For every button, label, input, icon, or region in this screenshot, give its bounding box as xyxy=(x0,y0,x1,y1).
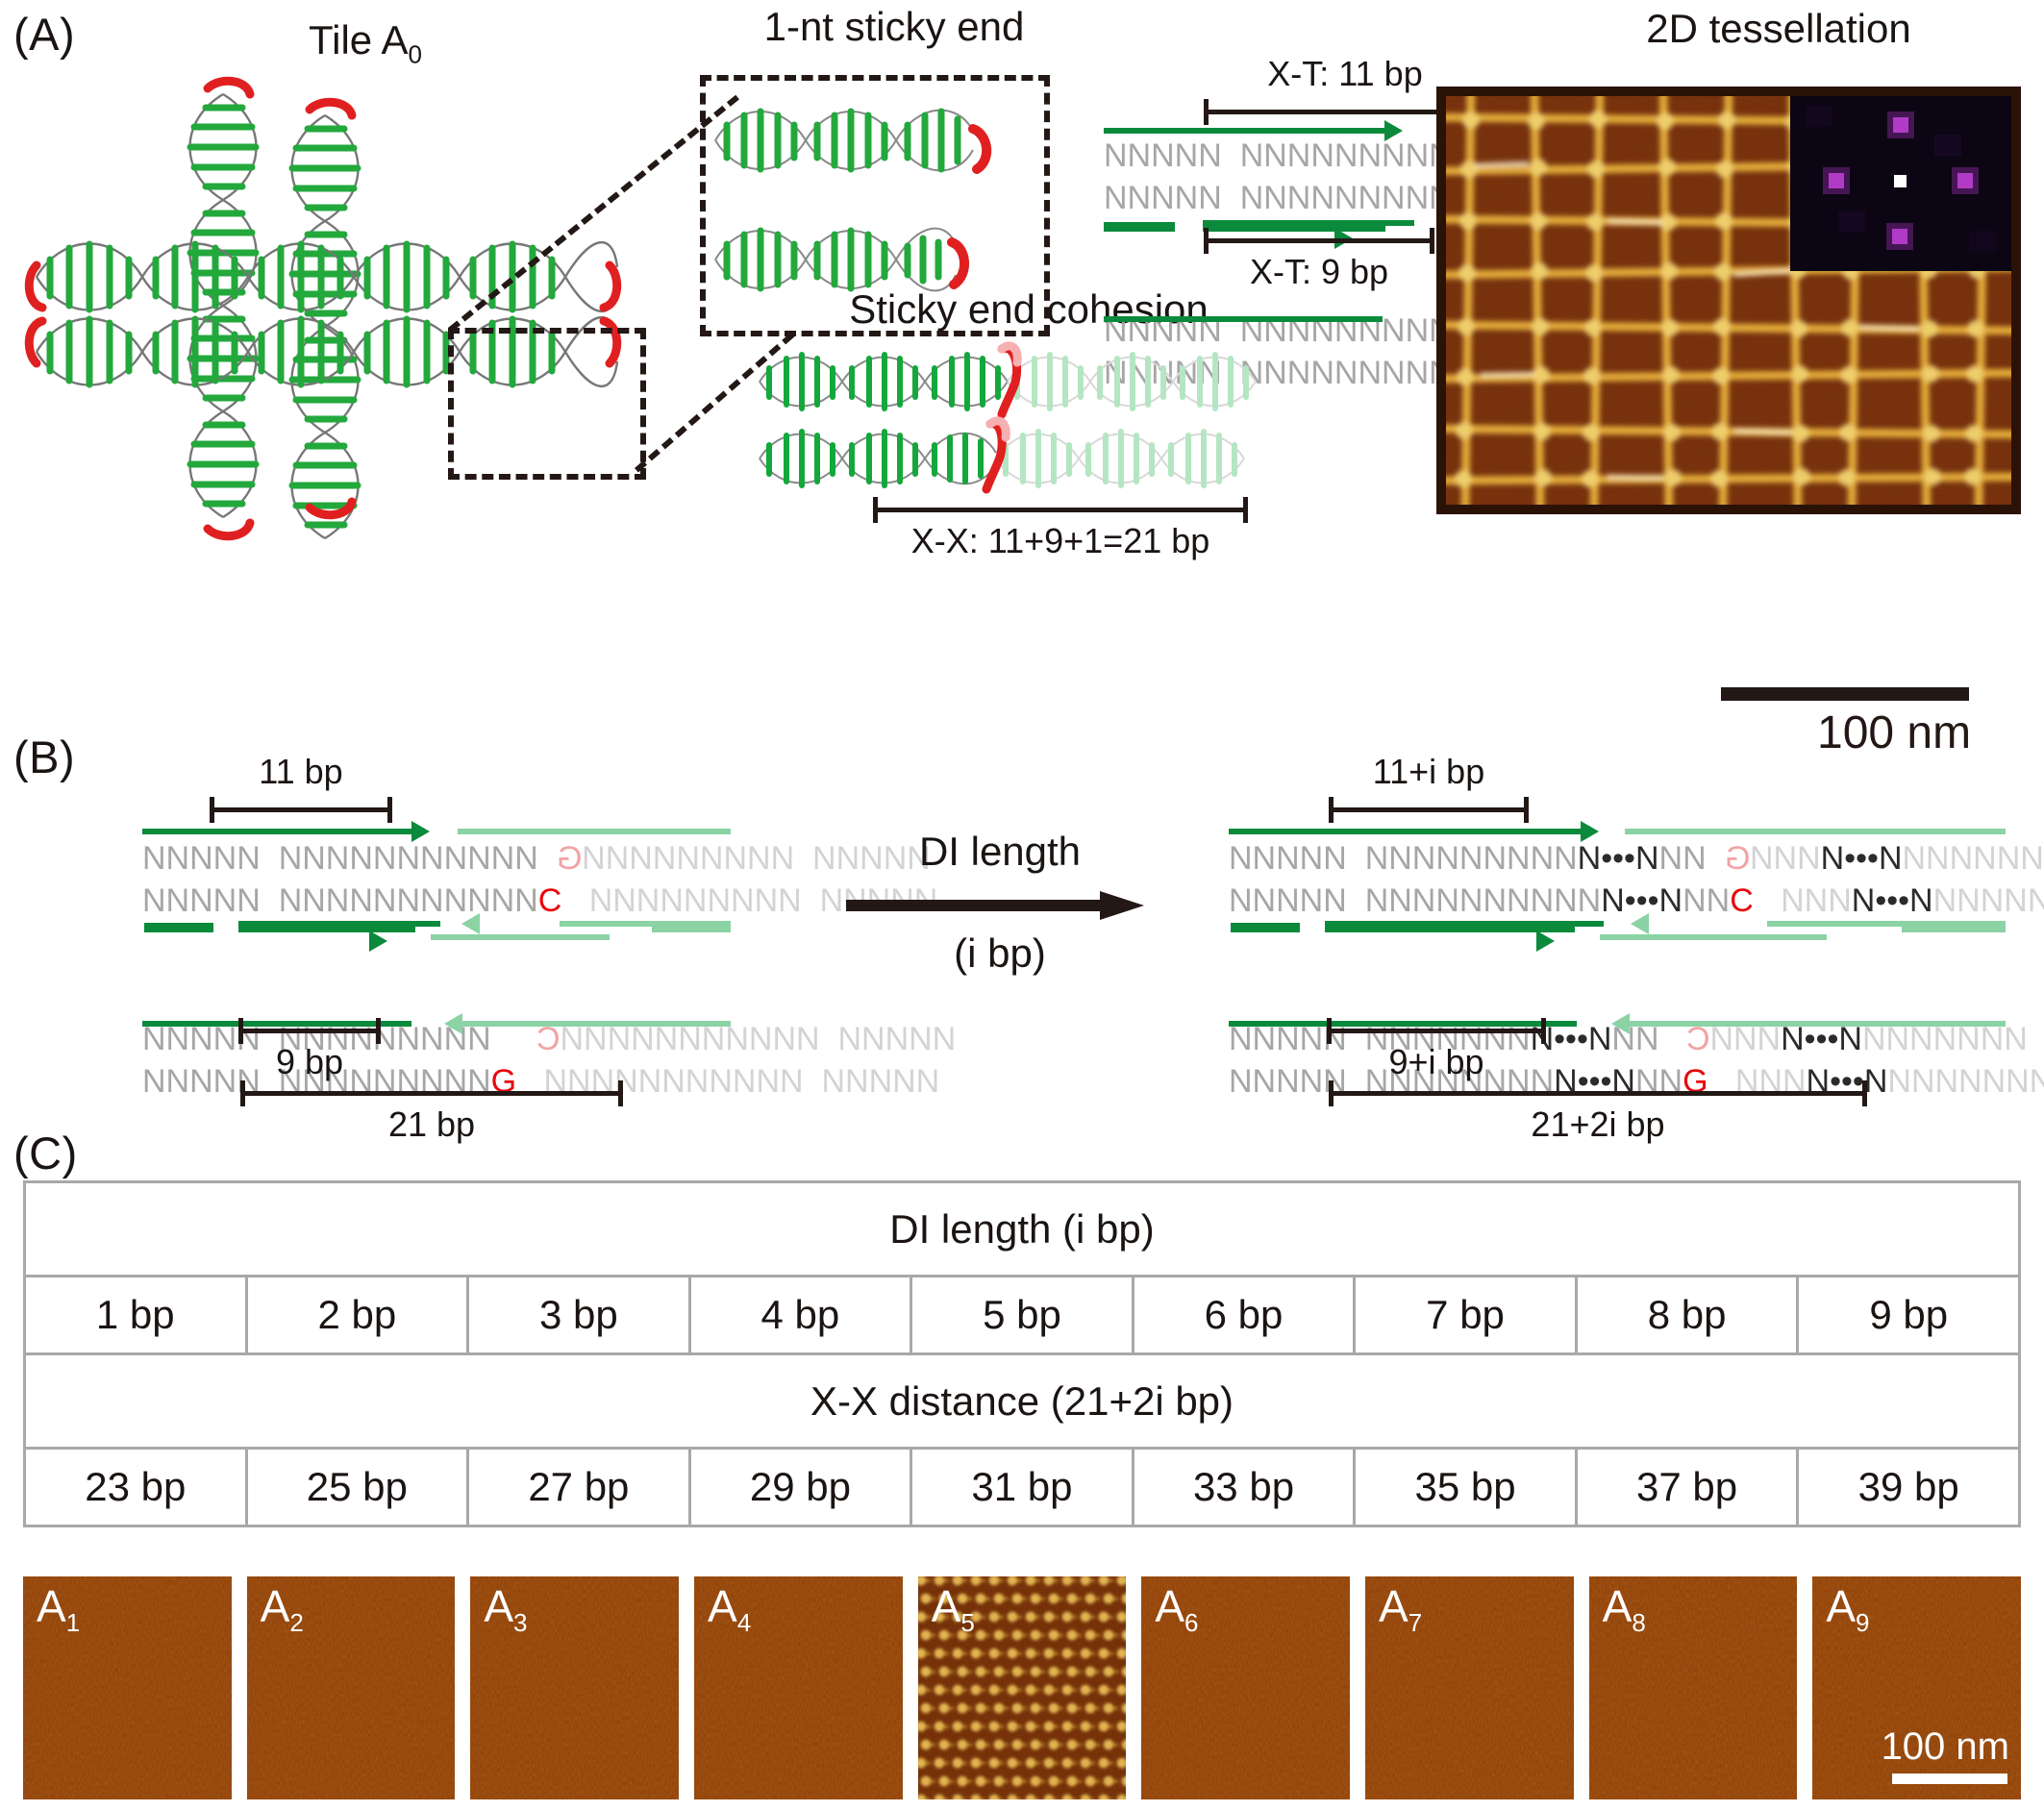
table-row-xx-values: 23 bp 25 bp 27 bp 29 bp 31 bp 33 bp 35 b… xyxy=(25,1449,2020,1526)
b-r-loop-f xyxy=(1902,923,2006,932)
b-r-r1-coreb: NN xyxy=(1659,840,1707,877)
b-right-11i-label: 11+i bp xyxy=(1373,752,1484,792)
b-r-r2-fb2: N xyxy=(1909,882,1933,919)
di-length-header: DI length (i bp) xyxy=(25,1182,2020,1277)
di-value-1: 1 bp xyxy=(25,1277,247,1354)
di-length-transform-arrow xyxy=(846,889,1144,920)
table-row-di-values: 1 bp 2 bp 3 bp 4 bp 5 bp 6 bp 7 bp 8 bp … xyxy=(25,1277,2020,1354)
strand-loop-2 xyxy=(1104,222,1175,232)
xx-value-8: 37 bp xyxy=(1576,1449,1798,1526)
b-r-strand-4f xyxy=(1617,1021,2006,1027)
b-l-seq-row-3: NNNNN NNNNNNNNN CNNNNNNNNNNN NNNNN xyxy=(142,1021,956,1063)
xx-21bp-label: X-X: 11+9+1=21 bp xyxy=(911,521,1210,561)
panel-b-left-sequence: NNNNN NNNNNNNNNNN GNNNNNNNNN NNNNN NNNNN… xyxy=(142,829,956,998)
strand-line-1 xyxy=(1104,128,1388,134)
afm-panel-5: A5 xyxy=(918,1576,1127,1799)
afm-label-9: A9 xyxy=(1826,1580,1869,1638)
tile-a0-title: Tile A0 xyxy=(183,17,548,69)
afm-label-letter: A xyxy=(708,1581,737,1631)
afm-label-letter: A xyxy=(261,1581,290,1631)
di-value-5: 5 bp xyxy=(911,1277,1134,1354)
b-l-r4-ftail: NNNNN xyxy=(821,1063,939,1100)
afm-label-letter: A xyxy=(932,1581,961,1631)
b-r-seq-row-4: NNNNN NNNNNNNNN•••NNNG NNNN•••NNNNNNNN N… xyxy=(1229,1063,2044,1105)
xx-distance-header: X-X distance (21+2i bp) xyxy=(25,1354,2020,1449)
afm-panel-6: A6 xyxy=(1141,1576,1350,1799)
b-r-r1-fb2: N xyxy=(1879,840,1903,877)
b-r-r2-fa: NNN xyxy=(1781,882,1852,919)
tile-zoom-selection-box xyxy=(448,328,646,480)
b-r-loop-a xyxy=(1231,923,1300,932)
tessellation-scale-bar xyxy=(1721,687,1969,701)
b-r-arrow-1 xyxy=(1581,821,1599,842)
b-r-arrow-4f xyxy=(1611,1013,1630,1034)
afm-panel-3: A3 xyxy=(470,1576,679,1799)
b-l-r2-left: NNNNN xyxy=(142,882,261,919)
panel-b-letter: (B) xyxy=(13,731,75,783)
b-r-r1-insr: N xyxy=(1635,840,1659,877)
b-left-11bp-label: 11 bp xyxy=(259,752,342,792)
tessellation-title: 2D tessellation xyxy=(1548,6,2009,52)
fft-inset xyxy=(1790,96,2011,271)
afm-label-letter: A xyxy=(1379,1581,1408,1631)
b-r-seq-row-1: NNNNN NNNNNNNNNN•••NNN GNNNN•••NNNNNNN N… xyxy=(1229,840,2044,882)
di-value-4: 4 bp xyxy=(689,1277,911,1354)
b-l-strand-3 xyxy=(238,921,440,927)
b-l-seq-row-1: NNNNN NNNNNNNNNNN GNNNNNNNNN NNNNN xyxy=(142,840,956,882)
afm-2d-tessellation xyxy=(1436,87,2021,514)
b-r-r1-dots: ••• xyxy=(1601,840,1635,877)
xt-11bp-label: X-T: 11 bp xyxy=(1267,54,1422,94)
b-r-r4-fcore: NNNNNNN xyxy=(1887,1063,2044,1100)
b-l-loop-a xyxy=(144,923,213,932)
afm-label-subscript: 7 xyxy=(1408,1608,1422,1637)
b-r-seq-row-3: NNNNN NNNNNNNN•••NNN CNNNN•••NNNNNNNN NN… xyxy=(1229,1021,2044,1063)
b-l-strand-1 xyxy=(142,829,417,834)
b-r-strand-3 xyxy=(1325,921,1604,927)
b-l-strand-4 xyxy=(142,1021,411,1027)
cohesion-diagram xyxy=(756,341,1294,495)
xt-9bp-label: X-T: 9 bp xyxy=(1250,252,1388,292)
b-r-arrow-3f xyxy=(1631,913,1649,934)
b-r-strand-1 xyxy=(1229,829,1586,834)
afm-strip-scale-bar xyxy=(1892,1774,2007,1784)
b-r-strand-3f2 xyxy=(1600,934,1827,940)
b-l-r2-overhang-c: C xyxy=(538,882,562,919)
table-row-xx-header: X-X distance (21+2i bp) xyxy=(25,1354,2020,1449)
afm-label-1: A1 xyxy=(37,1580,80,1638)
b-r-strand-1f xyxy=(1625,829,2006,834)
afm-panel-7: A7 xyxy=(1365,1576,1574,1799)
b-l-r1-left: NNNNN xyxy=(142,840,261,877)
afm-label-subscript: 8 xyxy=(1632,1608,1645,1637)
di-value-9: 9 bp xyxy=(1798,1277,2020,1354)
afm-panel-9: A9100 nm xyxy=(1812,1576,2021,1799)
b-r-arrow-3 xyxy=(1536,930,1555,952)
afm-panel-4: A4 xyxy=(694,1576,903,1799)
afm-label-3: A3 xyxy=(484,1580,527,1638)
b-left-9bp-label: 9 bp xyxy=(276,1042,343,1082)
afm-label-letter: A xyxy=(37,1581,66,1631)
b-l-r3-ftail: NNNNN xyxy=(837,1021,956,1057)
b-r-r2-insl: N xyxy=(1601,882,1625,919)
b-l-arrow-1 xyxy=(411,821,430,842)
panel-b-right-sequence: NNNNN NNNNNNNNNN•••NNN GNNNN•••NNNNNNN N… xyxy=(1229,829,2044,998)
xx-value-6: 33 bp xyxy=(1133,1449,1355,1526)
afm-panel-1: A1 xyxy=(23,1576,232,1799)
b-r-r1-faded-g: G xyxy=(1725,840,1750,878)
strand-line-3 xyxy=(1203,220,1414,226)
afm-label-subscript: 2 xyxy=(289,1608,303,1637)
sticky-end-magnified-box xyxy=(700,75,1050,336)
afm-label-5: A5 xyxy=(932,1580,975,1638)
b-r-r2-insr: N xyxy=(1659,882,1683,919)
b-r-r2-left: NNNNN xyxy=(1229,882,1347,919)
b-r-r2-fcore: NNNNNN xyxy=(1933,882,2044,919)
xx-value-9: 39 bp xyxy=(1798,1449,2020,1526)
b-r-r1-fa: NNN xyxy=(1750,840,1821,877)
b-r-r2-fb: N xyxy=(1852,882,1876,919)
b-r-r1-left: NNNNN xyxy=(1229,840,1347,877)
afm-label-subscript: 6 xyxy=(1184,1608,1198,1637)
b-r-r2-fdots: ••• xyxy=(1875,882,1909,919)
di-length-table: DI length (i bp) 1 bp 2 bp 3 bp 4 bp 5 b… xyxy=(23,1180,2021,1527)
b-l-loop-f xyxy=(652,923,731,932)
xx-value-4: 29 bp xyxy=(689,1449,911,1526)
afm-strip-scale-label: 100 nm xyxy=(1882,1725,2009,1769)
b-right-21-2i-label: 21+2i bp xyxy=(1531,1104,1664,1145)
b-r-r4-fb2: N xyxy=(1864,1063,1888,1100)
tile-title-text: Tile A xyxy=(309,17,408,62)
b-r-r1-fdots: ••• xyxy=(1844,840,1879,877)
afm-label-7: A7 xyxy=(1379,1580,1422,1638)
b-l-arrow-3 xyxy=(369,930,387,952)
afm-label-subscript: 5 xyxy=(960,1608,974,1637)
tessellation-scale-label: 100 nm xyxy=(1817,707,1971,759)
b-l-r1-faded-g: G xyxy=(557,840,582,878)
b-right-9i-label: 9+i bp xyxy=(1388,1042,1483,1082)
xx-value-1: 23 bp xyxy=(25,1449,247,1526)
b-r-r2-coreb: NN xyxy=(1683,882,1730,919)
afm-image-strip: A1A2A3A4A5A6A7A8A9100 nm xyxy=(23,1576,2021,1799)
b-l-strand-3f2 xyxy=(431,934,610,940)
b-l-strand-1f xyxy=(458,829,731,834)
b-r-r2-overhang-c: C xyxy=(1730,882,1754,919)
sticky-end-title: 1-nt sticky end xyxy=(673,4,1115,50)
b-l-arrow-4f xyxy=(444,1013,462,1034)
di-value-3: 3 bp xyxy=(468,1277,690,1354)
b-l-arrow-3f xyxy=(461,913,480,934)
b-r-r1-fcore: NNNNNN xyxy=(1903,840,2044,877)
b-r-strand-4 xyxy=(1229,1021,1577,1027)
afm-label-6: A6 xyxy=(1155,1580,1198,1638)
b-l-strand-4f xyxy=(450,1021,731,1027)
b-r-r3-insr: N xyxy=(1588,1021,1612,1057)
afm-label-4: A4 xyxy=(708,1580,751,1638)
b-r-r1-corea: NNNNNNNNN xyxy=(1365,840,1578,877)
b-l-r2-fcore: NNNNNNNNN xyxy=(589,882,802,919)
xx-value-2: 25 bp xyxy=(246,1449,468,1526)
seq-2-left: NNNNN xyxy=(1104,180,1222,216)
xx-value-3: 27 bp xyxy=(468,1449,690,1526)
di-value-6: 6 bp xyxy=(1133,1277,1355,1354)
di-length-arrow-label-top: DI length xyxy=(894,829,1106,875)
di-value-8: 8 bp xyxy=(1576,1277,1798,1354)
panel-c-letter: (C) xyxy=(13,1127,78,1179)
di-value-2: 2 bp xyxy=(246,1277,468,1354)
afm-label-subscript: 3 xyxy=(513,1608,527,1637)
table-row-di-header: DI length (i bp) xyxy=(25,1182,2020,1277)
tile-title-subscript: 0 xyxy=(409,39,422,68)
b-l-seq-row-4: NNNNN NNNNNNNNNG NNNNNNNNNNN NNNNN xyxy=(142,1063,956,1105)
di-length-arrow-label-bottom: (i bp) xyxy=(894,930,1106,977)
b-l-r1-core: NNNNNNNNNNN xyxy=(279,840,538,877)
seq-1-left: NNNNN xyxy=(1104,137,1222,174)
panel-a-letter: (A) xyxy=(13,8,75,61)
b-l-seq-row-2: NNNNN NNNNNNNNNNNC NNNNNNNNN NNNNN xyxy=(142,882,956,925)
b-left-21bp-label: 21 bp xyxy=(388,1104,475,1145)
b-r-r2-corea: NNNNNNNNNN xyxy=(1365,882,1602,919)
afm-label-letter: A xyxy=(1155,1581,1184,1631)
b-l-r1-fcore: NNNNNNNNN xyxy=(582,840,794,877)
afm-label-8: A8 xyxy=(1603,1580,1646,1638)
di-value-7: 7 bp xyxy=(1355,1277,1577,1354)
afm-label-subscript: 1 xyxy=(66,1608,80,1637)
afm-label-subscript: 9 xyxy=(1856,1608,1869,1637)
b-r-r1-fb: N xyxy=(1821,840,1845,877)
strand-line-4 xyxy=(1104,316,1383,322)
b-l-r2-core: NNNNNNNNNNN xyxy=(279,882,538,919)
afm-label-2: A2 xyxy=(261,1580,304,1638)
afm-label-letter: A xyxy=(484,1581,513,1631)
afm-label-subscript: 4 xyxy=(737,1608,751,1637)
b-r-r1-insl: N xyxy=(1578,840,1602,877)
afm-panel-2: A2 xyxy=(247,1576,456,1799)
afm-label-letter: A xyxy=(1826,1581,1856,1631)
afm-label-letter: A xyxy=(1603,1581,1633,1631)
xx-value-7: 35 bp xyxy=(1355,1449,1577,1526)
afm-panel-8: A8 xyxy=(1589,1576,1798,1799)
xx-value-5: 31 bp xyxy=(911,1449,1134,1526)
